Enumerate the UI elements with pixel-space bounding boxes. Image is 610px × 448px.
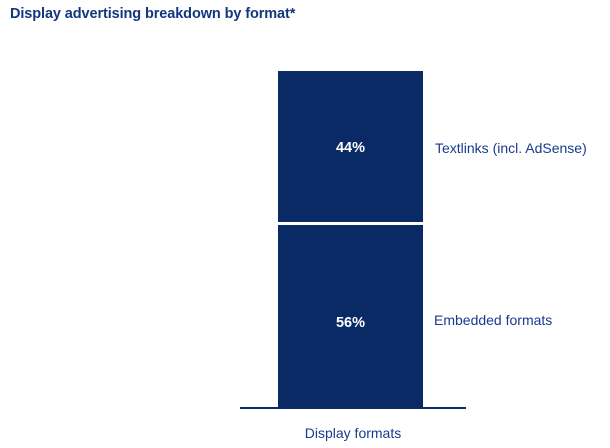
bar-segment-embedded[interactable]: 56% xyxy=(278,225,423,408)
stacked-bar: 44% 56% xyxy=(278,71,423,408)
chart-container: Display advertising breakdown by format*… xyxy=(0,0,610,448)
x-axis-line xyxy=(240,407,466,409)
series-label-textlinks: Textlinks (incl. AdSense) xyxy=(435,140,587,156)
bar-segment-embedded-value: 56% xyxy=(278,315,423,331)
plot-area: 44% 56% Textlinks (incl. AdSense) Embedd… xyxy=(0,0,610,448)
x-axis-category-label: Display formats xyxy=(240,425,466,441)
bar-segment-textlinks[interactable]: 44% xyxy=(278,71,423,222)
series-label-embedded: Embedded formats xyxy=(434,312,552,328)
bar-segment-textlinks-value: 44% xyxy=(278,140,423,156)
